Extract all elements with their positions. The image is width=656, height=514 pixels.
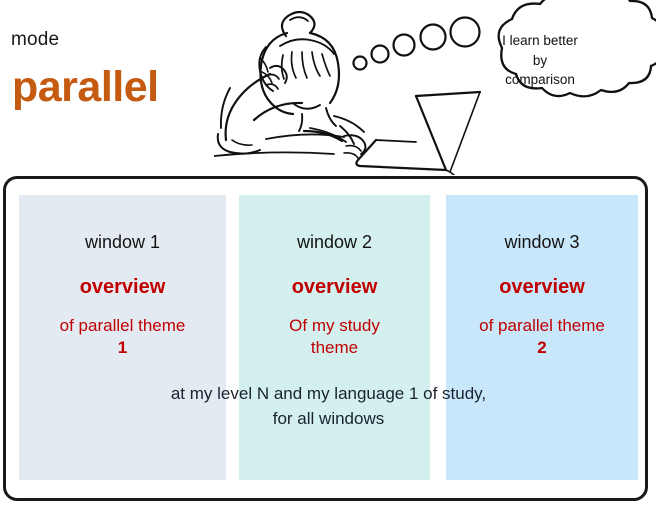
window-panel-1-overview: overview bbox=[19, 277, 226, 297]
window-panel-3-title: window 3 bbox=[446, 233, 638, 251]
window-panel-3-desc-line-2: 2 bbox=[537, 338, 546, 357]
window-panel-1-description: of parallel theme 1 bbox=[19, 315, 226, 359]
window-panel-1-desc-line-1: of parallel theme bbox=[60, 316, 186, 335]
thought-bubble-line-2: by bbox=[470, 51, 610, 71]
window-panel-2-overview: overview bbox=[239, 277, 430, 297]
thought-bubble-line-1: I learn better bbox=[470, 31, 610, 51]
window-panel-2-desc-line-2: theme bbox=[311, 338, 358, 357]
window-panel-2-title: window 2 bbox=[239, 233, 430, 251]
window-panel-1-desc-line-2: 1 bbox=[118, 338, 127, 357]
thought-bubble-text: I learn better by comparison bbox=[470, 31, 610, 90]
window-panel-1[interactable]: window 1 overview of parallel theme 1 bbox=[19, 195, 226, 480]
window-panel-3[interactable]: window 3 overview of parallel theme 2 bbox=[446, 195, 638, 480]
window-panel-2-desc-line-1: Of my study bbox=[289, 316, 380, 335]
window-panel-3-desc-line-1: of parallel theme bbox=[479, 316, 605, 335]
window-panel-3-overview: overview bbox=[446, 277, 638, 297]
window-panel-2[interactable]: window 2 overview Of my study theme bbox=[239, 195, 430, 480]
thought-bubble-line-3: comparison bbox=[470, 70, 610, 90]
window-panel-2-description: Of my study theme bbox=[239, 315, 430, 359]
header: mode parallel bbox=[0, 0, 656, 172]
window-panel-1-title: window 1 bbox=[19, 233, 226, 251]
mode-label: mode bbox=[11, 30, 59, 49]
windows-container: window 1 overview of parallel theme 1 wi… bbox=[3, 176, 648, 501]
mode-value: parallel bbox=[12, 66, 159, 109]
window-panel-3-description: of parallel theme 2 bbox=[446, 315, 638, 359]
